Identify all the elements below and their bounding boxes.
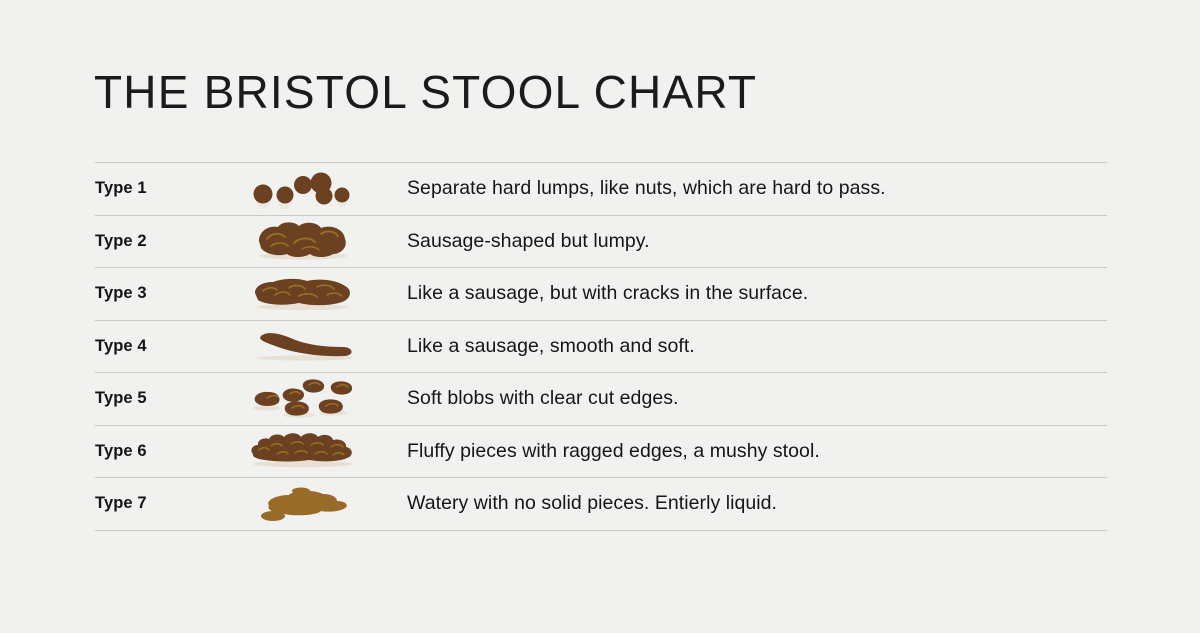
type-description: Sausage-shaped but lumpy.	[380, 230, 1107, 253]
type-description: Like a sausage, but with cracks in the s…	[380, 282, 1107, 305]
type-label: Type 6	[95, 442, 225, 461]
watery-liquid-icon	[225, 478, 380, 529]
type-description: Soft blobs with clear cut edges.	[380, 387, 1107, 410]
type-label: Type 7	[95, 494, 225, 513]
cracked-sausage-icon	[225, 268, 380, 319]
type-description: Watery with no solid pieces. Entierly li…	[380, 492, 1107, 515]
type-description: Separate hard lumps, like nuts, which ar…	[380, 177, 1107, 200]
table-row: Type 5	[95, 372, 1107, 425]
table-row: Type 6 Fluffy pieces with ragged edges, …	[95, 425, 1107, 478]
table-row: Type 3 Like a sausage, but with cracks i…	[95, 267, 1107, 320]
smooth-sausage-icon	[225, 321, 380, 372]
table-row: Type 2 Sausage-shaped but lumpy.	[95, 215, 1107, 268]
bristol-stool-chart-page: THE BRISTOL STOOL CHART Type 1 Separate …	[0, 0, 1200, 633]
table-row: Type 7 Watery with no solid pieces. Enti…	[95, 477, 1107, 531]
type-description: Fluffy pieces with ragged edges, a mushy…	[380, 440, 1107, 463]
lumpy-sausage-icon	[225, 216, 380, 267]
fluffy-mushy-icon	[225, 426, 380, 477]
type-label: Type 3	[95, 284, 225, 303]
stool-type-table: Type 1 Separate hard lumps, like nuts, w…	[95, 162, 1107, 531]
table-row: Type 4 Like a sausage, smooth and soft.	[95, 320, 1107, 373]
type-label: Type 4	[95, 337, 225, 356]
type-label: Type 2	[95, 232, 225, 251]
page-title: THE BRISTOL STOOL CHART	[94, 69, 757, 115]
type-label: Type 1	[95, 179, 225, 198]
soft-blobs-icon	[225, 373, 380, 424]
table-row: Type 1 Separate hard lumps, like nuts, w…	[95, 162, 1107, 215]
type-label: Type 5	[95, 389, 225, 408]
separate-hard-lumps-icon	[225, 163, 380, 214]
type-description: Like a sausage, smooth and soft.	[380, 335, 1107, 358]
